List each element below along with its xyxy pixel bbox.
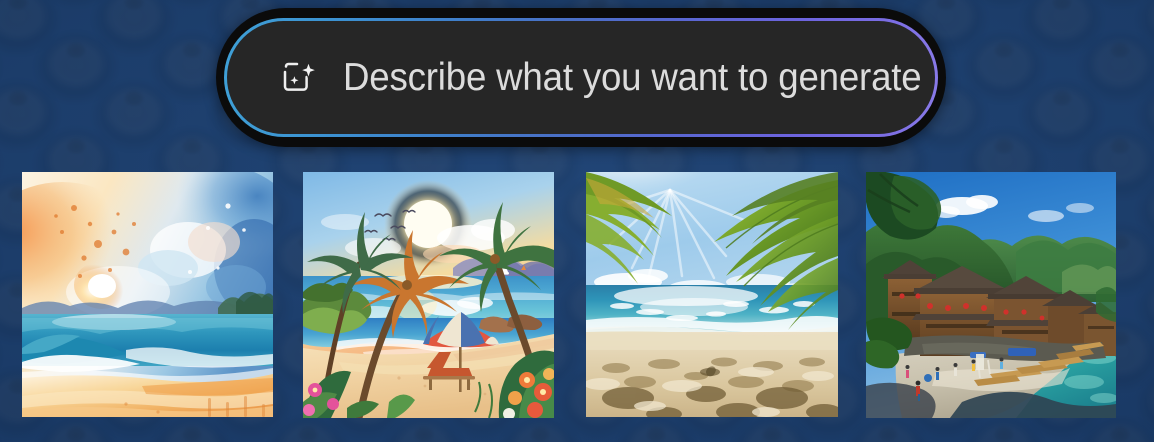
result-thumbnail[interactable] (586, 172, 838, 417)
result-thumbnail[interactable] (866, 172, 1116, 418)
prompt-input-field[interactable]: Describe what you want to generate (227, 21, 935, 134)
result-image-watercolor-sunset (22, 172, 273, 417)
prompt-placeholder-text: Describe what you want to generate (343, 58, 921, 97)
prompt-bar-gradient-border: Describe what you want to generate (224, 18, 938, 137)
result-image-beach-photo (586, 172, 838, 417)
image-generation-panel: Describe what you want to generate (0, 0, 1154, 442)
result-thumbnail[interactable] (22, 172, 273, 417)
prompt-bar[interactable]: Describe what you want to generate (216, 8, 946, 147)
result-image-tropical-illustration (303, 172, 554, 418)
generate-sparkle-icon (277, 56, 321, 100)
result-thumbnail[interactable] (303, 172, 554, 418)
generated-results-strip (0, 172, 1154, 442)
result-image-riverside-village (866, 172, 1116, 418)
